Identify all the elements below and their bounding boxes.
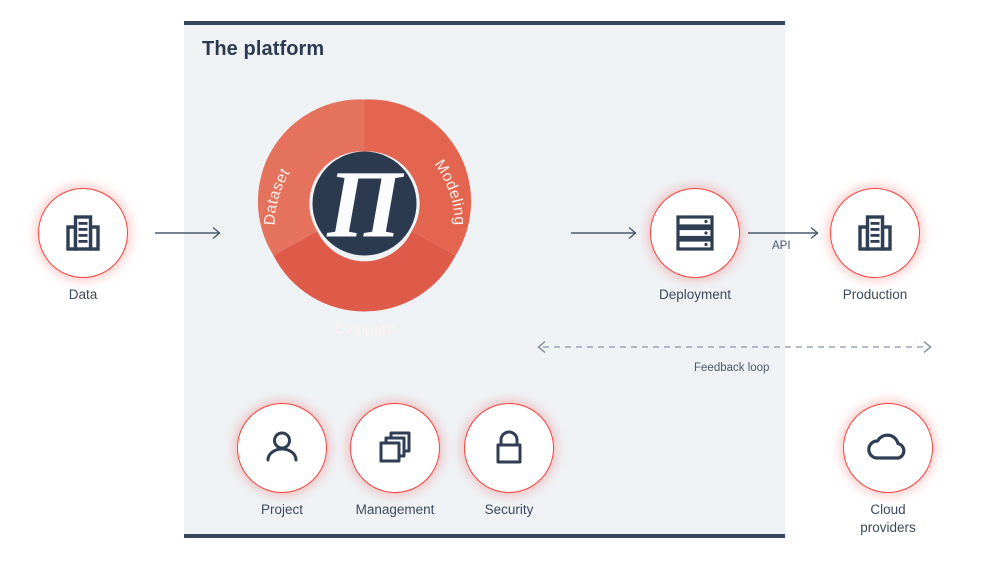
node-production[interactable]: Production (830, 188, 920, 278)
connector-label-api: API (772, 240, 791, 252)
node-cloud-providers[interactable]: Cloud providers (843, 403, 933, 493)
node-deployment-label: Deployment (605, 286, 785, 304)
node-security[interactable]: Security (464, 403, 554, 493)
user-icon (237, 403, 327, 493)
node-cloud-label-line2: providers (860, 520, 916, 535)
node-data-label: Data (0, 286, 173, 304)
node-cloud-label-line1: Cloud (870, 502, 905, 517)
connector-label-feedback: Feedback loop (694, 362, 769, 374)
node-production-label: Production (785, 286, 965, 304)
arrow-platform-to-deployment (571, 228, 636, 239)
node-cloud-label: Cloud providers (798, 501, 978, 537)
building-document-icon (38, 188, 128, 278)
node-data[interactable]: Data (38, 188, 128, 278)
arrow-feedback-loop (539, 342, 931, 353)
diagram-canvas: The platform Dataset Modeling (0, 0, 997, 578)
node-project[interactable]: Project (237, 403, 327, 493)
arrow-deployment-to-production (748, 228, 818, 239)
arrow-data-to-platform (155, 228, 220, 239)
node-deployment[interactable]: Deployment (650, 188, 740, 278)
server-rack-icon (650, 188, 740, 278)
padlock-icon (464, 403, 554, 493)
stacked-layers-icon (350, 403, 440, 493)
node-management[interactable]: Management (350, 403, 440, 493)
cloud-icon (843, 403, 933, 493)
building-document-icon (830, 188, 920, 278)
node-security-label: Security (419, 501, 599, 519)
